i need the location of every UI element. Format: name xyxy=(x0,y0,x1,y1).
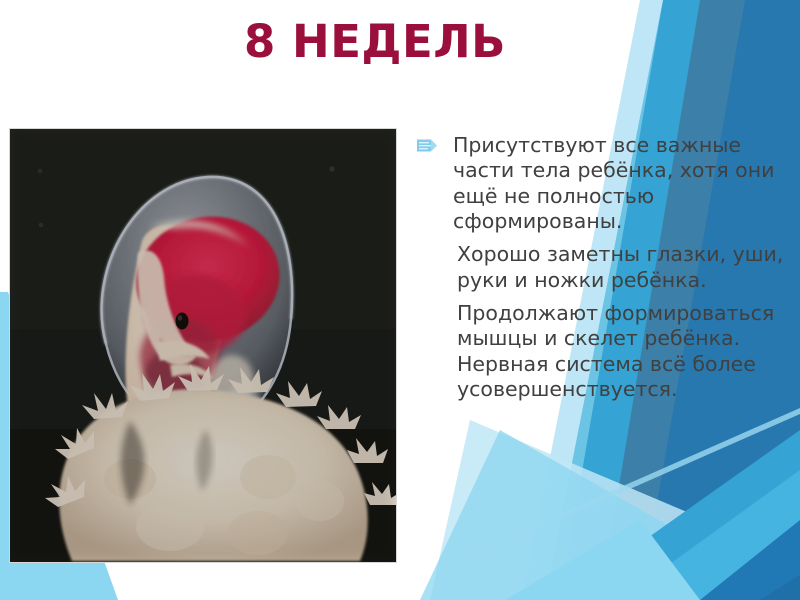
deco-shape-hairline-1 xyxy=(455,408,800,566)
deco-shape-fan-sky-1 xyxy=(620,470,800,600)
body-text-block: Присутствуют все важные части тела ребён… xyxy=(413,133,788,402)
deco-shape-pale-fan-1 xyxy=(430,420,800,600)
page-title: 8 НЕДЕЛЬ xyxy=(140,18,610,65)
slide-canvas: 8 НЕДЕЛЬ xyxy=(0,0,800,600)
deco-shape-fan-mid-1 xyxy=(560,430,800,600)
deco-shape-fan-light-1 xyxy=(505,520,700,600)
paragraph-text: Продолжают формироваться мышцы и скелет … xyxy=(457,301,788,402)
deco-shape-pale-fan-2 xyxy=(420,430,800,600)
bullet-paragraph-2: Хорошо заметны глазки, уши, руки и ножки… xyxy=(413,242,788,293)
deco-shape-fan-navy-1 xyxy=(760,575,800,600)
paragraph-text: Присутствуют все важные части тела ребён… xyxy=(453,133,788,234)
pennant-arrow-bullet-icon xyxy=(417,139,437,152)
embryo-photo xyxy=(10,129,396,562)
bullet-paragraph-3: Продолжают формироваться мышцы и скелет … xyxy=(413,301,788,402)
page-title-word: НЕДЕЛЬ xyxy=(292,15,506,68)
paragraph-text: Хорошо заметны глазки, уши, руки и ножки… xyxy=(457,242,788,293)
embryo-photo-illustration xyxy=(10,129,396,562)
bullet-paragraph-1: Присутствуют все важные части тела ребён… xyxy=(413,133,788,234)
deco-shape-fan-deep-1 xyxy=(700,520,800,600)
page-title-number: 8 xyxy=(244,15,276,68)
